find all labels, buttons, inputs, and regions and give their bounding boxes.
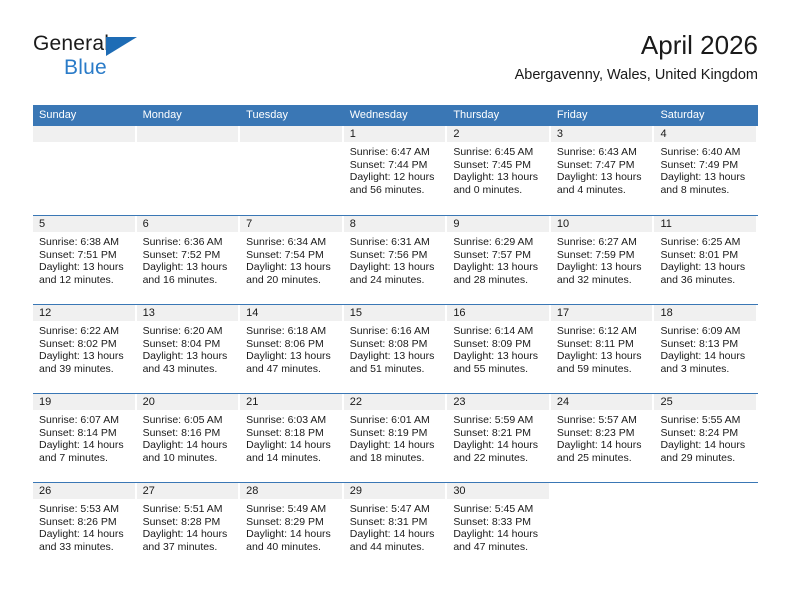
day-daylight-line2: and 33 minutes.: [39, 541, 131, 554]
calendar-day-cell-empty: [240, 126, 344, 215]
weekday-header-friday: Friday: [551, 105, 655, 126]
day-number: 16: [447, 305, 549, 321]
day-number: 15: [344, 305, 446, 321]
day-sunset: Sunset: 8:06 PM: [246, 338, 338, 351]
day-sunrise: Sunrise: 6:18 AM: [246, 325, 338, 338]
day-sunset: Sunset: 7:57 PM: [453, 249, 545, 262]
calendar-day-cell[interactable]: 8Sunrise: 6:31 AMSunset: 7:56 PMDaylight…: [344, 216, 448, 304]
day-daylight-line1: Daylight: 13 hours: [660, 171, 752, 184]
day-daylight-line1: Daylight: 14 hours: [143, 439, 235, 452]
calendar-grid: SundayMondayTuesdayWednesdayThursdayFrid…: [33, 105, 758, 571]
day-daylight-line2: and 28 minutes.: [453, 274, 545, 287]
day-details: Sunrise: 6:29 AMSunset: 7:57 PMDaylight:…: [447, 232, 551, 286]
day-number: 13: [137, 305, 239, 321]
day-details: Sunrise: 6:14 AMSunset: 8:09 PMDaylight:…: [447, 321, 551, 375]
day-details: Sunrise: 6:31 AMSunset: 7:56 PMDaylight:…: [344, 232, 448, 286]
day-sunset: Sunset: 8:01 PM: [660, 249, 752, 262]
calendar-week-row: 26Sunrise: 5:53 AMSunset: 8:26 PMDayligh…: [33, 482, 758, 571]
day-daylight-line2: and 3 minutes.: [660, 363, 752, 376]
day-details: Sunrise: 6:01 AMSunset: 8:19 PMDaylight:…: [344, 410, 448, 464]
day-number: 30: [447, 483, 549, 499]
calendar-day-cell[interactable]: 5Sunrise: 6:38 AMSunset: 7:51 PMDaylight…: [33, 216, 137, 304]
day-sunset: Sunset: 7:52 PM: [143, 249, 235, 262]
day-number: 20: [137, 394, 239, 410]
day-details: Sunrise: 6:47 AMSunset: 7:44 PMDaylight:…: [344, 142, 448, 196]
day-daylight-line2: and 37 minutes.: [143, 541, 235, 554]
day-number: 21: [240, 394, 342, 410]
day-details: Sunrise: 6:45 AMSunset: 7:45 PMDaylight:…: [447, 142, 551, 196]
day-daylight-line2: and 25 minutes.: [557, 452, 649, 465]
day-sunrise: Sunrise: 6:27 AM: [557, 236, 649, 249]
day-daylight-line2: and 51 minutes.: [350, 363, 442, 376]
day-daylight-line2: and 32 minutes.: [557, 274, 649, 287]
day-daylight-line1: Daylight: 14 hours: [350, 528, 442, 541]
day-daylight-line1: Daylight: 14 hours: [453, 439, 545, 452]
day-sunrise: Sunrise: 6:20 AM: [143, 325, 235, 338]
day-daylight-line2: and 12 minutes.: [39, 274, 131, 287]
day-sunrise: Sunrise: 5:49 AM: [246, 503, 338, 516]
calendar-week-row: 1Sunrise: 6:47 AMSunset: 7:44 PMDaylight…: [33, 126, 758, 215]
day-sunrise: Sunrise: 6:07 AM: [39, 414, 131, 427]
day-sunset: Sunset: 8:16 PM: [143, 427, 235, 440]
day-details: Sunrise: 5:53 AMSunset: 8:26 PMDaylight:…: [33, 499, 137, 553]
day-sunset: Sunset: 8:28 PM: [143, 516, 235, 529]
day-sunrise: Sunrise: 6:40 AM: [660, 146, 752, 159]
calendar-day-cell[interactable]: 1Sunrise: 6:47 AMSunset: 7:44 PMDaylight…: [344, 126, 448, 215]
page-title: April 2026: [515, 28, 758, 62]
calendar-day-cell[interactable]: 27Sunrise: 5:51 AMSunset: 8:28 PMDayligh…: [137, 483, 241, 571]
calendar-day-cell[interactable]: 21Sunrise: 6:03 AMSunset: 8:18 PMDayligh…: [240, 394, 344, 482]
day-sunrise: Sunrise: 6:03 AM: [246, 414, 338, 427]
day-sunset: Sunset: 8:29 PM: [246, 516, 338, 529]
day-daylight-line2: and 39 minutes.: [39, 363, 131, 376]
calendar-day-cell[interactable]: 11Sunrise: 6:25 AMSunset: 8:01 PMDayligh…: [654, 216, 758, 304]
calendar-day-cell[interactable]: 24Sunrise: 5:57 AMSunset: 8:23 PMDayligh…: [551, 394, 655, 482]
day-sunrise: Sunrise: 6:16 AM: [350, 325, 442, 338]
general-blue-logo: General Blue: [33, 32, 183, 88]
day-daylight-line1: Daylight: 12 hours: [350, 171, 442, 184]
calendar-day-cell[interactable]: 10Sunrise: 6:27 AMSunset: 7:59 PMDayligh…: [551, 216, 655, 304]
day-details: Sunrise: 6:09 AMSunset: 8:13 PMDaylight:…: [654, 321, 758, 375]
day-details: Sunrise: 6:12 AMSunset: 8:11 PMDaylight:…: [551, 321, 655, 375]
day-details: Sunrise: 6:05 AMSunset: 8:16 PMDaylight:…: [137, 410, 241, 464]
day-daylight-line2: and 47 minutes.: [246, 363, 338, 376]
logo-text-general: General: [33, 32, 109, 56]
day-sunrise: Sunrise: 6:25 AM: [660, 236, 752, 249]
day-number: 14: [240, 305, 342, 321]
day-daylight-line2: and 56 minutes.: [350, 184, 442, 197]
day-number: 6: [137, 216, 239, 232]
day-daylight-line1: Daylight: 13 hours: [246, 350, 338, 363]
day-number: 5: [33, 216, 135, 232]
day-daylight-line1: Daylight: 13 hours: [660, 261, 752, 274]
calendar-day-cell[interactable]: 26Sunrise: 5:53 AMSunset: 8:26 PMDayligh…: [33, 483, 137, 571]
calendar-day-cell[interactable]: 17Sunrise: 6:12 AMSunset: 8:11 PMDayligh…: [551, 305, 655, 393]
day-number: 18: [654, 305, 756, 321]
calendar-day-cell[interactable]: 19Sunrise: 6:07 AMSunset: 8:14 PMDayligh…: [33, 394, 137, 482]
day-daylight-line2: and 20 minutes.: [246, 274, 338, 287]
day-sunrise: Sunrise: 5:55 AM: [660, 414, 752, 427]
day-daylight-line2: and 8 minutes.: [660, 184, 752, 197]
day-sunrise: Sunrise: 5:53 AM: [39, 503, 131, 516]
day-daylight-line2: and 18 minutes.: [350, 452, 442, 465]
day-daylight-line2: and 4 minutes.: [557, 184, 649, 197]
day-daylight-line1: Daylight: 14 hours: [246, 439, 338, 452]
day-sunset: Sunset: 7:56 PM: [350, 249, 442, 262]
day-daylight-line1: Daylight: 13 hours: [143, 350, 235, 363]
day-sunset: Sunset: 8:24 PM: [660, 427, 752, 440]
weekday-header-saturday: Saturday: [654, 105, 758, 126]
day-details: Sunrise: 5:57 AMSunset: 8:23 PMDaylight:…: [551, 410, 655, 464]
day-daylight-line1: Daylight: 13 hours: [39, 261, 131, 274]
day-sunset: Sunset: 7:59 PM: [557, 249, 649, 262]
page-subtitle: Abergavenny, Wales, United Kingdom: [515, 64, 758, 86]
day-number: 8: [344, 216, 446, 232]
calendar-day-cell[interactable]: 30Sunrise: 5:45 AMSunset: 8:33 PMDayligh…: [447, 483, 551, 571]
day-sunrise: Sunrise: 6:14 AM: [453, 325, 545, 338]
day-number: [137, 126, 239, 142]
day-number: 1: [344, 126, 446, 142]
day-details: Sunrise: 6:40 AMSunset: 7:49 PMDaylight:…: [654, 142, 758, 196]
calendar-body: 1Sunrise: 6:47 AMSunset: 7:44 PMDaylight…: [33, 126, 758, 571]
day-sunrise: Sunrise: 6:29 AM: [453, 236, 545, 249]
day-sunrise: Sunrise: 6:43 AM: [557, 146, 649, 159]
day-sunset: Sunset: 7:44 PM: [350, 159, 442, 172]
day-details: Sunrise: 6:36 AMSunset: 7:52 PMDaylight:…: [137, 232, 241, 286]
day-sunset: Sunset: 8:26 PM: [39, 516, 131, 529]
weekday-header-sunday: Sunday: [33, 105, 137, 126]
day-daylight-line2: and 43 minutes.: [143, 363, 235, 376]
calendar-day-cell-empty: [654, 483, 758, 571]
day-daylight-line2: and 29 minutes.: [660, 452, 752, 465]
day-sunrise: Sunrise: 6:05 AM: [143, 414, 235, 427]
day-daylight-line1: Daylight: 14 hours: [557, 439, 649, 452]
day-daylight-line1: Daylight: 14 hours: [39, 439, 131, 452]
day-daylight-line1: Daylight: 13 hours: [557, 350, 649, 363]
weekday-header-monday: Monday: [137, 105, 241, 126]
day-number: [33, 126, 135, 142]
day-sunrise: Sunrise: 6:31 AM: [350, 236, 442, 249]
day-daylight-line1: Daylight: 13 hours: [453, 261, 545, 274]
day-sunset: Sunset: 8:23 PM: [557, 427, 649, 440]
calendar-day-cell[interactable]: 4Sunrise: 6:40 AMSunset: 7:49 PMDaylight…: [654, 126, 758, 215]
weekday-header-wednesday: Wednesday: [344, 105, 448, 126]
calendar-day-cell[interactable]: 7Sunrise: 6:34 AMSunset: 7:54 PMDaylight…: [240, 216, 344, 304]
day-sunrise: Sunrise: 5:59 AM: [453, 414, 545, 427]
day-daylight-line1: Daylight: 14 hours: [246, 528, 338, 541]
day-details: Sunrise: 6:43 AMSunset: 7:47 PMDaylight:…: [551, 142, 655, 196]
day-details: Sunrise: 6:38 AMSunset: 7:51 PMDaylight:…: [33, 232, 137, 286]
day-daylight-line1: Daylight: 13 hours: [453, 350, 545, 363]
day-number: 29: [344, 483, 446, 499]
day-details: Sunrise: 5:47 AMSunset: 8:31 PMDaylight:…: [344, 499, 448, 553]
day-details: Sunrise: 6:18 AMSunset: 8:06 PMDaylight:…: [240, 321, 344, 375]
day-sunrise: Sunrise: 6:12 AM: [557, 325, 649, 338]
calendar-day-cell-empty: [137, 126, 241, 215]
day-sunrise: Sunrise: 6:34 AM: [246, 236, 338, 249]
day-sunset: Sunset: 8:13 PM: [660, 338, 752, 351]
day-sunset: Sunset: 7:54 PM: [246, 249, 338, 262]
calendar-day-cell[interactable]: 15Sunrise: 6:16 AMSunset: 8:08 PMDayligh…: [344, 305, 448, 393]
day-sunrise: Sunrise: 5:57 AM: [557, 414, 649, 427]
triangle-icon: [106, 37, 137, 56]
calendar-day-cell[interactable]: 6Sunrise: 6:36 AMSunset: 7:52 PMDaylight…: [137, 216, 241, 304]
day-sunset: Sunset: 8:21 PM: [453, 427, 545, 440]
day-number: 19: [33, 394, 135, 410]
weekday-header-tuesday: Tuesday: [240, 105, 344, 126]
page-header: General Blue April 2026 Abergavenny, Wal…: [33, 28, 758, 96]
day-sunset: Sunset: 8:31 PM: [350, 516, 442, 529]
day-daylight-line1: Daylight: 13 hours: [39, 350, 131, 363]
day-sunrise: Sunrise: 6:45 AM: [453, 146, 545, 159]
calendar-day-cell[interactable]: 29Sunrise: 5:47 AMSunset: 8:31 PMDayligh…: [344, 483, 448, 571]
day-sunrise: Sunrise: 6:22 AM: [39, 325, 131, 338]
day-details: Sunrise: 5:59 AMSunset: 8:21 PMDaylight:…: [447, 410, 551, 464]
calendar-day-cell[interactable]: 28Sunrise: 5:49 AMSunset: 8:29 PMDayligh…: [240, 483, 344, 571]
day-number: 22: [344, 394, 446, 410]
day-daylight-line1: Daylight: 14 hours: [350, 439, 442, 452]
day-number: 4: [654, 126, 756, 142]
day-number: 11: [654, 216, 756, 232]
day-daylight-line2: and 40 minutes.: [246, 541, 338, 554]
day-daylight-line1: Daylight: 14 hours: [143, 528, 235, 541]
day-sunset: Sunset: 8:14 PM: [39, 427, 131, 440]
day-daylight-line2: and 22 minutes.: [453, 452, 545, 465]
day-details: Sunrise: 6:25 AMSunset: 8:01 PMDaylight:…: [654, 232, 758, 286]
calendar-week-row: 19Sunrise: 6:07 AMSunset: 8:14 PMDayligh…: [33, 393, 758, 482]
day-number: 26: [33, 483, 135, 499]
day-number: 3: [551, 126, 653, 142]
day-daylight-line2: and 14 minutes.: [246, 452, 338, 465]
day-sunrise: Sunrise: 5:47 AM: [350, 503, 442, 516]
calendar-day-cell[interactable]: 25Sunrise: 5:55 AMSunset: 8:24 PMDayligh…: [654, 394, 758, 482]
calendar-day-cell[interactable]: 3Sunrise: 6:43 AMSunset: 7:47 PMDaylight…: [551, 126, 655, 215]
day-daylight-line1: Daylight: 13 hours: [453, 171, 545, 184]
day-daylight-line2: and 10 minutes.: [143, 452, 235, 465]
day-sunset: Sunset: 8:18 PM: [246, 427, 338, 440]
day-sunrise: Sunrise: 5:51 AM: [143, 503, 235, 516]
day-details: Sunrise: 6:34 AMSunset: 7:54 PMDaylight:…: [240, 232, 344, 286]
calendar-day-cell[interactable]: 20Sunrise: 6:05 AMSunset: 8:16 PMDayligh…: [137, 394, 241, 482]
day-sunset: Sunset: 8:11 PM: [557, 338, 649, 351]
calendar-day-cell[interactable]: 14Sunrise: 6:18 AMSunset: 8:06 PMDayligh…: [240, 305, 344, 393]
day-number: 24: [551, 394, 653, 410]
calendar-page: General Blue April 2026 Abergavenny, Wal…: [0, 0, 792, 612]
day-details: Sunrise: 5:45 AMSunset: 8:33 PMDaylight:…: [447, 499, 551, 553]
day-daylight-line1: Daylight: 13 hours: [557, 171, 649, 184]
day-daylight-line1: Daylight: 13 hours: [557, 261, 649, 274]
day-daylight-line2: and 47 minutes.: [453, 541, 545, 554]
calendar-day-cell[interactable]: 22Sunrise: 6:01 AMSunset: 8:19 PMDayligh…: [344, 394, 448, 482]
calendar-day-cell[interactable]: 18Sunrise: 6:09 AMSunset: 8:13 PMDayligh…: [654, 305, 758, 393]
weekday-header-thursday: Thursday: [447, 105, 551, 126]
day-daylight-line2: and 16 minutes.: [143, 274, 235, 287]
day-number: 10: [551, 216, 653, 232]
day-sunset: Sunset: 8:09 PM: [453, 338, 545, 351]
weekday-header-row: SundayMondayTuesdayWednesdayThursdayFrid…: [33, 105, 758, 126]
day-details: Sunrise: 6:27 AMSunset: 7:59 PMDaylight:…: [551, 232, 655, 286]
day-sunset: Sunset: 7:45 PM: [453, 159, 545, 172]
day-number: 25: [654, 394, 756, 410]
day-daylight-line2: and 36 minutes.: [660, 274, 752, 287]
day-daylight-line2: and 44 minutes.: [350, 541, 442, 554]
day-daylight-line1: Daylight: 14 hours: [39, 528, 131, 541]
day-details: Sunrise: 6:22 AMSunset: 8:02 PMDaylight:…: [33, 321, 137, 375]
day-sunset: Sunset: 8:33 PM: [453, 516, 545, 529]
calendar-day-cell-empty: [33, 126, 137, 215]
day-daylight-line1: Daylight: 13 hours: [246, 261, 338, 274]
calendar-day-cell[interactable]: 12Sunrise: 6:22 AMSunset: 8:02 PMDayligh…: [33, 305, 137, 393]
day-details: Sunrise: 5:51 AMSunset: 8:28 PMDaylight:…: [137, 499, 241, 553]
day-sunrise: Sunrise: 6:38 AM: [39, 236, 131, 249]
day-number: 17: [551, 305, 653, 321]
day-daylight-line1: Daylight: 13 hours: [350, 350, 442, 363]
logo-text-blue: Blue: [64, 56, 107, 80]
calendar-week-row: 12Sunrise: 6:22 AMSunset: 8:02 PMDayligh…: [33, 304, 758, 393]
title-block: April 2026 Abergavenny, Wales, United Ki…: [515, 28, 758, 86]
day-daylight-line1: Daylight: 13 hours: [143, 261, 235, 274]
calendar-day-cell[interactable]: 9Sunrise: 6:29 AMSunset: 7:57 PMDaylight…: [447, 216, 551, 304]
day-number: 28: [240, 483, 342, 499]
day-daylight-line1: Daylight: 14 hours: [660, 350, 752, 363]
calendar-day-cell[interactable]: 23Sunrise: 5:59 AMSunset: 8:21 PMDayligh…: [447, 394, 551, 482]
day-sunrise: Sunrise: 5:45 AM: [453, 503, 545, 516]
day-daylight-line2: and 24 minutes.: [350, 274, 442, 287]
day-sunrise: Sunrise: 6:47 AM: [350, 146, 442, 159]
day-daylight-line2: and 55 minutes.: [453, 363, 545, 376]
day-details: Sunrise: 5:49 AMSunset: 8:29 PMDaylight:…: [240, 499, 344, 553]
day-sunset: Sunset: 7:49 PM: [660, 159, 752, 172]
calendar-week-row: 5Sunrise: 6:38 AMSunset: 7:51 PMDaylight…: [33, 215, 758, 304]
day-daylight-line1: Daylight: 13 hours: [350, 261, 442, 274]
day-daylight-line1: Daylight: 14 hours: [660, 439, 752, 452]
day-details: Sunrise: 6:07 AMSunset: 8:14 PMDaylight:…: [33, 410, 137, 464]
day-sunset: Sunset: 8:19 PM: [350, 427, 442, 440]
day-daylight-line2: and 0 minutes.: [453, 184, 545, 197]
day-number: 7: [240, 216, 342, 232]
day-number: 2: [447, 126, 549, 142]
day-daylight-line2: and 7 minutes.: [39, 452, 131, 465]
day-number: 12: [33, 305, 135, 321]
day-sunset: Sunset: 7:51 PM: [39, 249, 131, 262]
day-number: [240, 126, 342, 142]
day-details: Sunrise: 5:55 AMSunset: 8:24 PMDaylight:…: [654, 410, 758, 464]
calendar-day-cell[interactable]: 2Sunrise: 6:45 AMSunset: 7:45 PMDaylight…: [447, 126, 551, 215]
day-details: Sunrise: 6:20 AMSunset: 8:04 PMDaylight:…: [137, 321, 241, 375]
day-sunset: Sunset: 8:02 PM: [39, 338, 131, 351]
day-number: 27: [137, 483, 239, 499]
day-sunset: Sunset: 8:04 PM: [143, 338, 235, 351]
day-daylight-line1: Daylight: 14 hours: [453, 528, 545, 541]
calendar-day-cell[interactable]: 16Sunrise: 6:14 AMSunset: 8:09 PMDayligh…: [447, 305, 551, 393]
calendar-day-cell-empty: [551, 483, 655, 571]
day-daylight-line2: and 59 minutes.: [557, 363, 649, 376]
day-sunrise: Sunrise: 6:01 AM: [350, 414, 442, 427]
day-number: 23: [447, 394, 549, 410]
day-details: Sunrise: 6:03 AMSunset: 8:18 PMDaylight:…: [240, 410, 344, 464]
day-number: 9: [447, 216, 549, 232]
calendar-day-cell[interactable]: 13Sunrise: 6:20 AMSunset: 8:04 PMDayligh…: [137, 305, 241, 393]
day-sunrise: Sunrise: 6:36 AM: [143, 236, 235, 249]
day-sunset: Sunset: 7:47 PM: [557, 159, 649, 172]
day-sunrise: Sunrise: 6:09 AM: [660, 325, 752, 338]
day-sunset: Sunset: 8:08 PM: [350, 338, 442, 351]
day-details: Sunrise: 6:16 AMSunset: 8:08 PMDaylight:…: [344, 321, 448, 375]
